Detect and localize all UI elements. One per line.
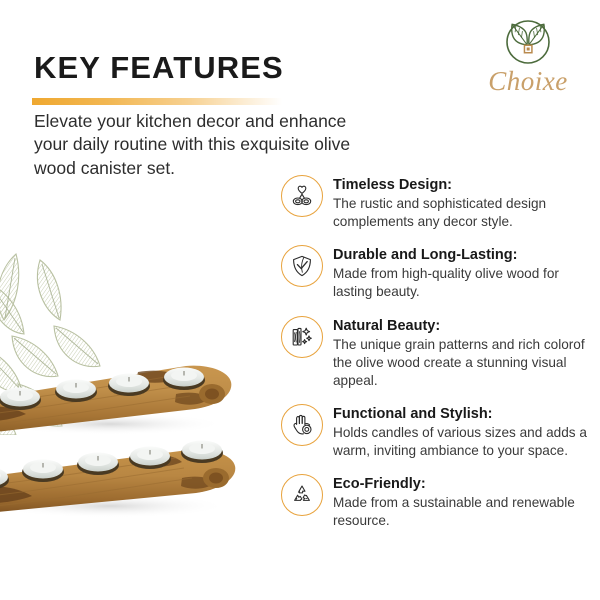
feature-title: Timeless Design: <box>333 176 591 194</box>
tealight-candle <box>108 374 150 397</box>
feature-description: Made from high-quality olive wood for la… <box>333 265 591 301</box>
page-title: KEY FEATURES <box>34 52 284 83</box>
feature-icon-badge <box>281 474 323 516</box>
feature-item: Natural Beauty: The unique grain pattern… <box>281 316 591 390</box>
feature-title: Natural Beauty: <box>333 317 591 335</box>
tealight-candle <box>0 388 41 411</box>
heart-infinity-icon <box>290 184 314 208</box>
tealight-candle <box>163 368 205 391</box>
feature-description: The rustic and sophisticated design comp… <box>333 195 591 231</box>
intro-paragraph: Elevate your kitchen decor and enhance y… <box>34 110 379 180</box>
feature-description: The unique grain patterns and rich color… <box>333 336 591 390</box>
tealight-candle <box>22 460 64 483</box>
feature-title: Functional and Stylish: <box>333 405 591 423</box>
hand-ok-gesture-icon <box>290 413 314 437</box>
title-divider <box>32 98 282 105</box>
tealight-candle <box>77 453 119 476</box>
feature-list: Timeless Design: The rustic and sophisti… <box>281 175 591 544</box>
infographic-canvas: Choixe KEY FEATURES Elevate your kitchen… <box>0 0 600 600</box>
feature-item: Durable and Long-Lasting: Made from high… <box>281 245 591 301</box>
feature-item: Functional and Stylish: Holds candles of… <box>281 404 591 460</box>
product-photo-olive-wood-candle-holders <box>0 338 275 538</box>
feature-description: Made from a sustainable and renewable re… <box>333 494 591 530</box>
feature-title: Eco-Friendly: <box>333 475 591 493</box>
tealight-candle <box>55 380 97 403</box>
feature-description: Holds candles of various sizes and adds … <box>333 424 591 460</box>
feature-icon-badge <box>281 316 323 358</box>
feature-item: Timeless Design: The rustic and sophisti… <box>281 175 591 231</box>
wood-grain-sparkle-icon <box>290 325 314 349</box>
brand-name: Choixe <box>472 68 584 95</box>
shield-check-icon <box>290 254 314 278</box>
feature-item: Eco-Friendly: Made from a sustainable an… <box>281 474 591 530</box>
feature-title: Durable and Long-Lasting: <box>333 246 591 264</box>
feature-icon-badge <box>281 175 323 217</box>
brand-logo: Choixe <box>472 14 584 95</box>
feature-icon-badge <box>281 245 323 287</box>
tealight-candle <box>181 441 223 464</box>
tealight-candle <box>129 447 171 470</box>
feature-icon-badge <box>281 404 323 446</box>
recycle-icon <box>290 483 314 507</box>
leaf-circle-emblem-icon <box>500 14 556 70</box>
